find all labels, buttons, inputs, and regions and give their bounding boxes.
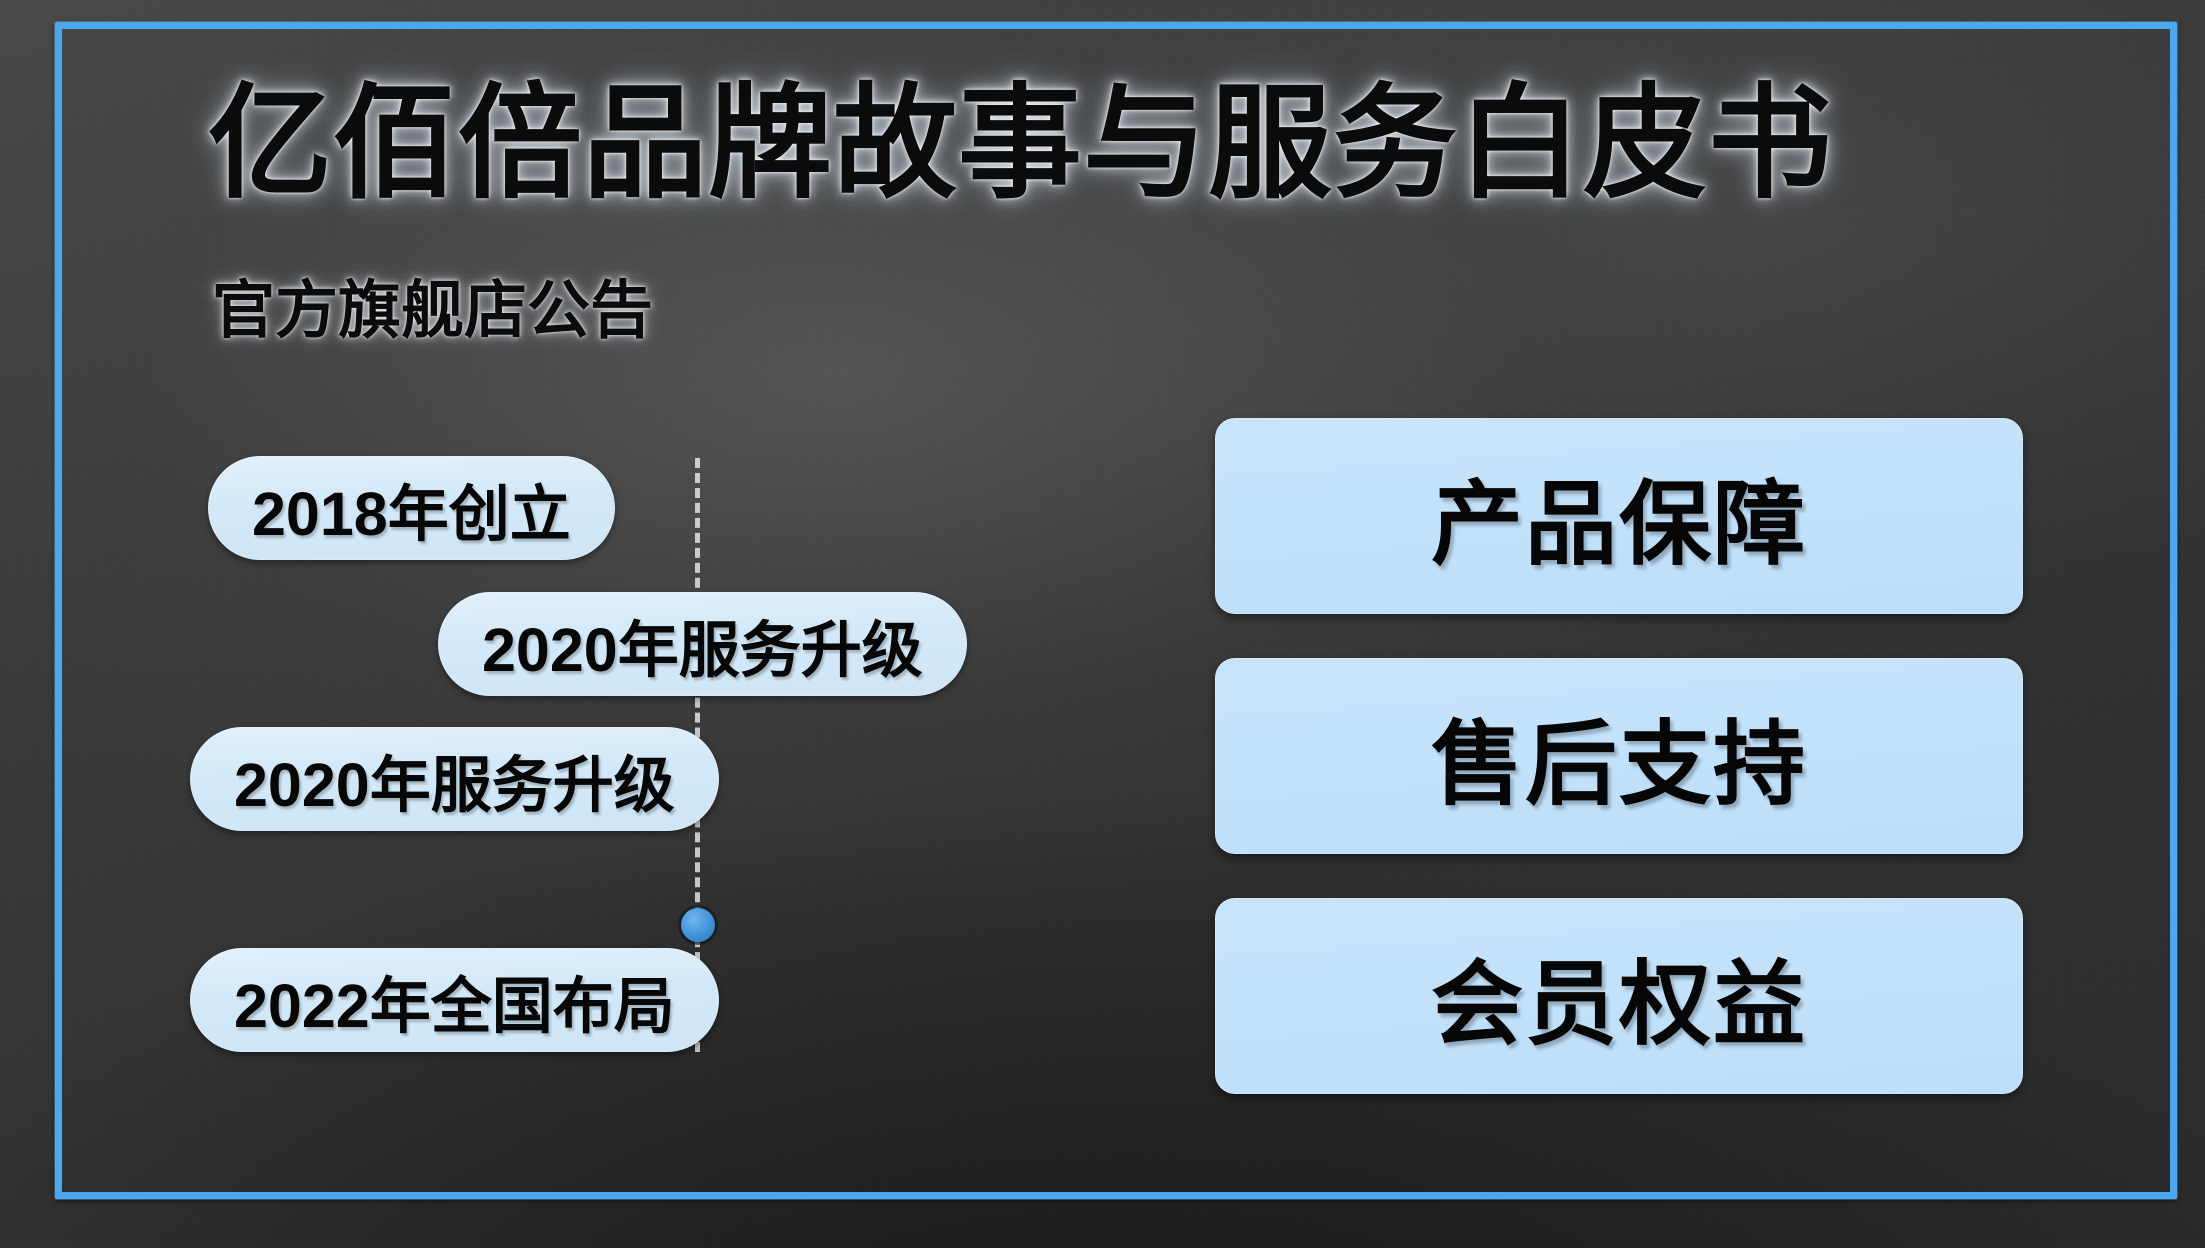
timeline-milestone-pill[interactable]: 2020年服务升级 bbox=[438, 592, 967, 696]
timeline-milestone-pill[interactable]: 2022年全国布局 bbox=[190, 948, 719, 1052]
timeline-milestone-pill[interactable]: 2018年创立 bbox=[208, 456, 615, 560]
page-subtitle: 官方旗舰店公告 bbox=[212, 277, 653, 346]
service-card-list: 产品保障 售后支持 会员权益 bbox=[1215, 418, 2023, 1138]
service-card-label: 会员权益 bbox=[1431, 930, 1807, 1063]
page-title: 亿佰倍品牌故事与服务白皮书 bbox=[208, 78, 1833, 212]
service-card[interactable]: 会员权益 bbox=[1215, 898, 2023, 1094]
service-card[interactable]: 售后支持 bbox=[1215, 658, 2023, 854]
timeline-milestone-pill[interactable]: 2020年服务升级 bbox=[190, 727, 719, 831]
brand-timeline: 2018年创立 2020年服务升级 2020年服务升级 2022年全国布局 bbox=[190, 440, 1090, 1080]
service-card-label: 产品保障 bbox=[1431, 450, 1807, 583]
service-card[interactable]: 产品保障 bbox=[1215, 418, 2023, 614]
service-card-label: 售后支持 bbox=[1431, 690, 1807, 823]
slide-canvas: 亿佰倍品牌故事与服务白皮书 官方旗舰店公告 2018年创立 2020年服务升级 … bbox=[0, 0, 2205, 1248]
timeline-node-2-icon bbox=[681, 908, 715, 942]
